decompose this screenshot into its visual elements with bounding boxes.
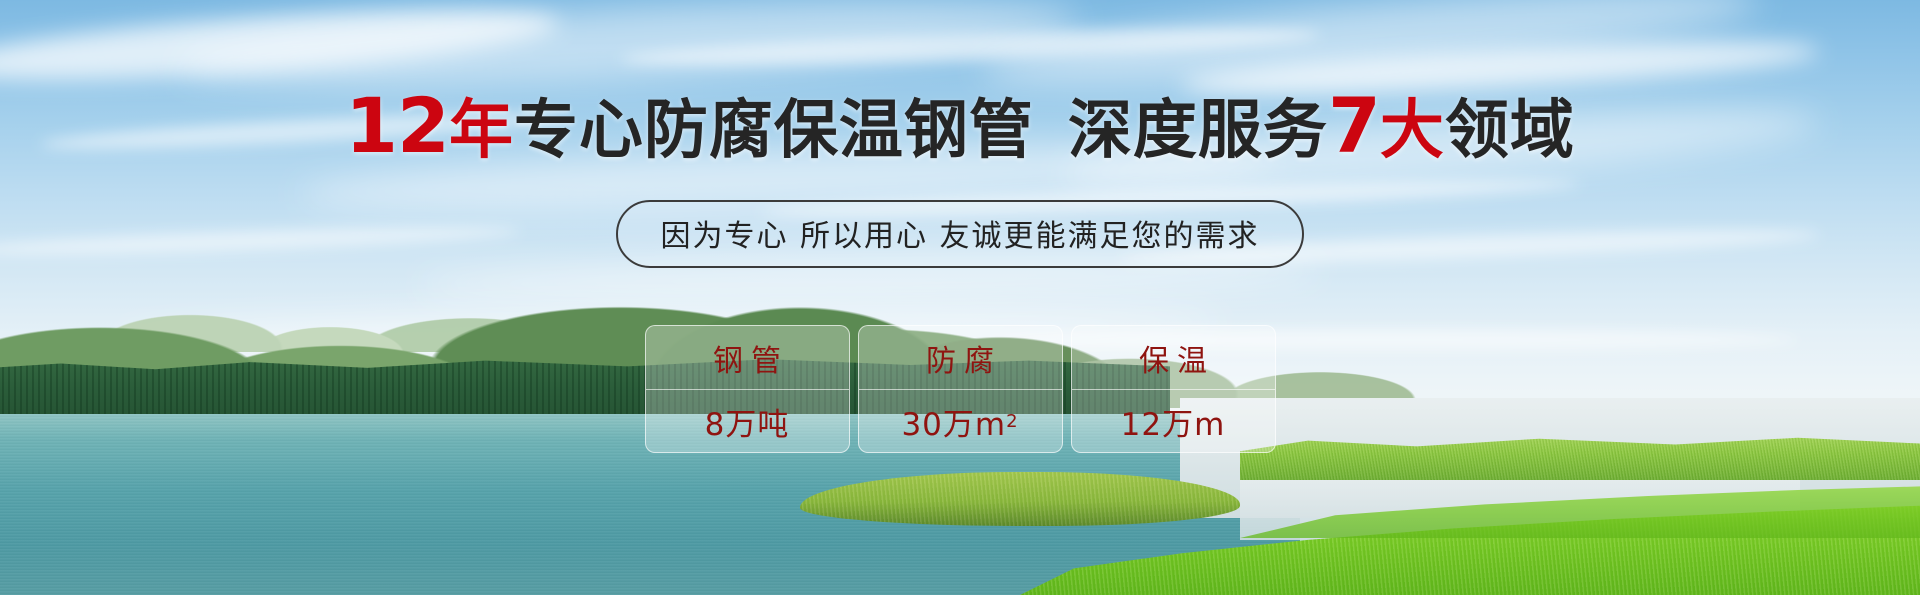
headline-fields-unit: 大: [1380, 94, 1445, 168]
hero-banner: 12年专心防腐保温钢管深度服务7大领域 因为专心 所以用心 友诚更能满足您的需求…: [0, 0, 1920, 595]
page-title: 12年专心防腐保温钢管深度服务7大领域: [0, 88, 1920, 164]
stat-value-superscript: 2: [1006, 411, 1018, 432]
stat-card-value: 8万吨: [646, 390, 849, 452]
subtitle-container: 因为专心 所以用心 友诚更能满足您的需求: [0, 200, 1920, 268]
stat-card-value: 12万m: [1072, 390, 1275, 452]
subtitle-pill: 因为专心 所以用心 友诚更能满足您的需求: [616, 200, 1303, 268]
stat-card-title: 保温: [1072, 326, 1275, 390]
stat-value-text: 12万m: [1121, 399, 1226, 444]
stat-card-insulation[interactable]: 保温 12万m: [1071, 325, 1276, 453]
stat-value-text: 30万m: [901, 399, 1006, 444]
headline-fields-text: 领域: [1445, 94, 1575, 168]
headline-years-unit: 年: [449, 94, 514, 168]
headline-years-number: 12: [345, 81, 449, 170]
headline-service-text: 深度服务: [1068, 94, 1328, 168]
stat-value-text: 8万吨: [705, 399, 790, 444]
stat-card-steel-pipe[interactable]: 钢管 8万吨: [645, 325, 850, 453]
stats-card-row: 钢管 8万吨 防腐 30万m2 保温 12万m: [0, 325, 1920, 453]
stat-card-anticorrosion[interactable]: 防腐 30万m2: [858, 325, 1063, 453]
stat-card-title: 防腐: [859, 326, 1062, 390]
stat-card-title: 钢管: [646, 326, 849, 390]
stat-card-value: 30万m2: [859, 390, 1062, 452]
headline-main-text: 专心防腐保温钢管: [514, 94, 1034, 168]
headline-fields-number: 7: [1328, 81, 1380, 170]
